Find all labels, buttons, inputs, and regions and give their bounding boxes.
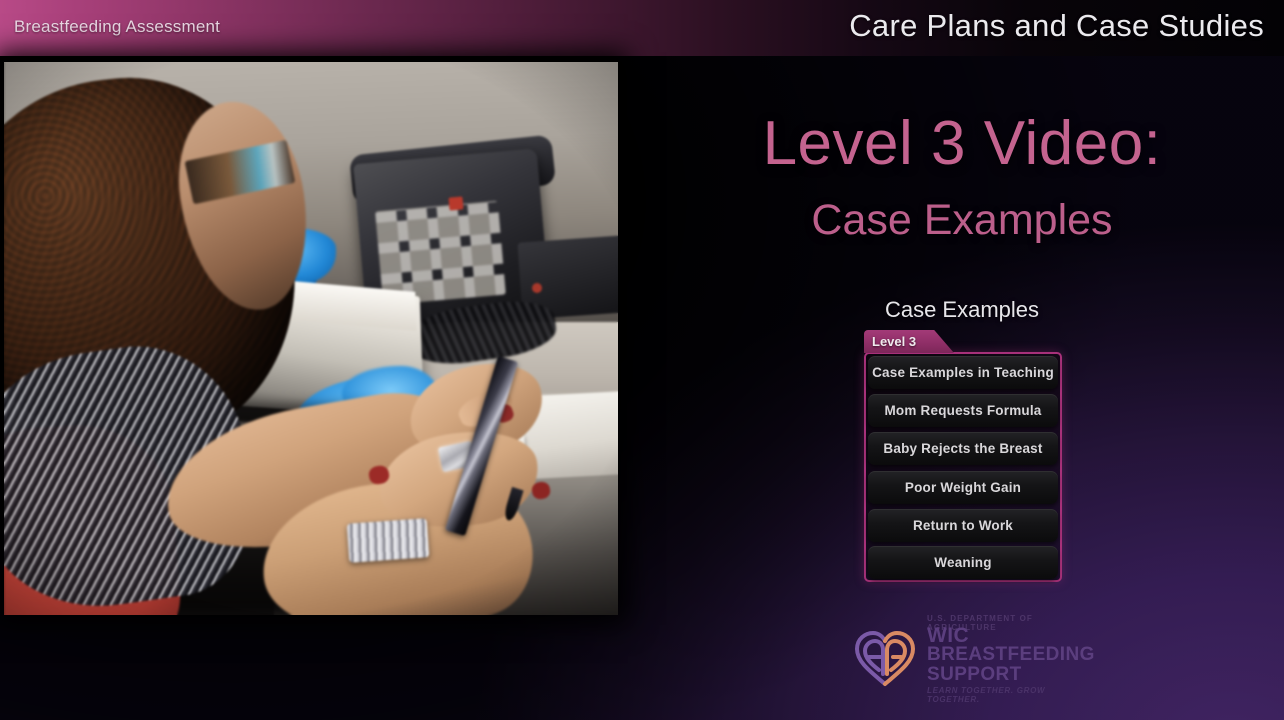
logo-support-line: SUPPORT (927, 665, 1022, 684)
logo-breastfeeding-line: BREASTFEEDING (927, 645, 1095, 664)
menu-item-mom-requests-formula[interactable]: Mom Requests Formula (868, 394, 1058, 427)
menu-item-return-to-work[interactable]: Return to Work (868, 509, 1058, 542)
clinic-photo-frame (4, 62, 618, 615)
menu-item-case-examples-in-teaching[interactable]: Case Examples in Teaching (868, 356, 1058, 389)
photo-phone-indicator (449, 197, 464, 211)
page-subtitle: Case Examples (640, 196, 1284, 245)
heart-knot-icon (849, 624, 921, 690)
menu-item-weaning[interactable]: Weaning (868, 546, 1058, 579)
photo-side-device-led (532, 283, 542, 293)
slide-header-bar: Breastfeeding Assessment Care Plans and … (0, 0, 1284, 56)
menu-heading: Case Examples (640, 297, 1284, 323)
logo-wic-line: WIC (927, 625, 969, 646)
slide-canvas: Breastfeeding Assessment Care Plans and … (0, 0, 1284, 720)
logo-tagline: LEARN TOGETHER. GROW TOGETHER. (927, 686, 1081, 704)
clinic-photo (4, 62, 618, 615)
menu-item-poor-weight-gain[interactable]: Poor Weight Gain (868, 471, 1058, 504)
level-3-tab-label: Level 3 (872, 334, 916, 349)
page-title: Level 3 Video: (640, 108, 1284, 179)
header-section-title: Care Plans and Case Studies (849, 8, 1264, 44)
menu-item-baby-rejects-the-breast[interactable]: Baby Rejects the Breast (868, 432, 1058, 465)
photo-woman-watch (347, 518, 429, 562)
wic-breastfeeding-support-logo: U.S. DEPARTMENT OF AGRICULTURE WIC BREAS… (849, 612, 1081, 704)
header-module-title: Breastfeeding Assessment (14, 17, 220, 37)
